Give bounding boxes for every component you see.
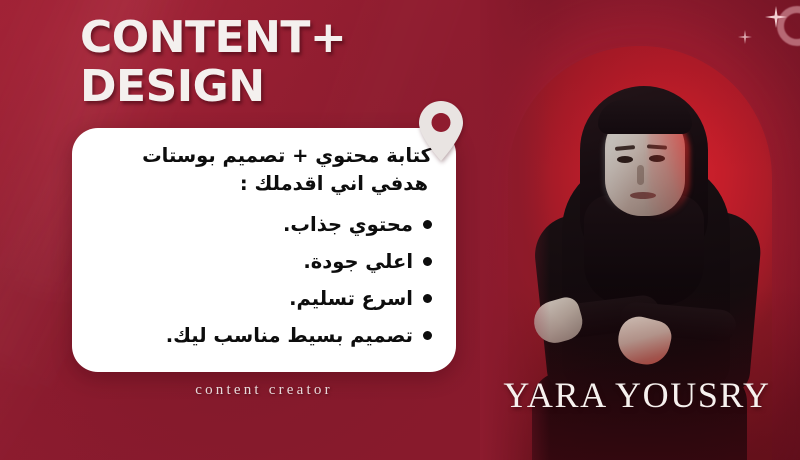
card-heading-line-1: كتابة محتوي + تصميم بوستات — [92, 142, 432, 170]
list-item: تصميم بسيط مناسب ليك. — [92, 317, 432, 354]
eye-left — [617, 156, 633, 163]
list-item-label: اسرع تسليم. — [92, 287, 413, 310]
hijab-front-edge — [598, 100, 692, 134]
nose — [637, 165, 644, 185]
list-item: اسرع تسليم. — [92, 280, 432, 317]
title-line-1: CONTENT+ — [80, 16, 346, 59]
card-heading-line-2: هدفي اني اقدملك : — [92, 170, 432, 198]
bullet-dot-icon — [423, 257, 432, 266]
services-info-card: كتابة محتوي + تصميم بوستات هدفي اني اقدم… — [72, 128, 456, 372]
list-item-label: اعلي جودة. — [92, 250, 413, 273]
list-item-label: محتوي جذاب. — [92, 213, 413, 236]
bullet-dot-icon — [423, 331, 432, 340]
promo-banner: CONTENT+ DESIGN كتابة محتوي + تصميم بوست… — [0, 0, 800, 460]
title-line-2: DESIGN — [80, 65, 346, 108]
services-bullet-list: محتوي جذاب. اعلي جودة. اسرع تسليم. تصميم… — [92, 206, 434, 354]
tagline: content creator — [72, 382, 456, 399]
bullet-dot-icon — [423, 294, 432, 303]
map-pin-icon — [419, 101, 463, 161]
card-heading: كتابة محتوي + تصميم بوستات هدفي اني اقدم… — [92, 142, 434, 199]
list-item-label: تصميم بسيط مناسب ليك. — [92, 324, 413, 347]
list-item: اعلي جودة. — [92, 243, 432, 280]
page-title: CONTENT+ DESIGN — [80, 16, 346, 108]
list-item: محتوي جذاب. — [92, 206, 432, 243]
bullet-dot-icon — [423, 220, 432, 229]
person-name: YARA YOUSRY — [482, 374, 792, 416]
